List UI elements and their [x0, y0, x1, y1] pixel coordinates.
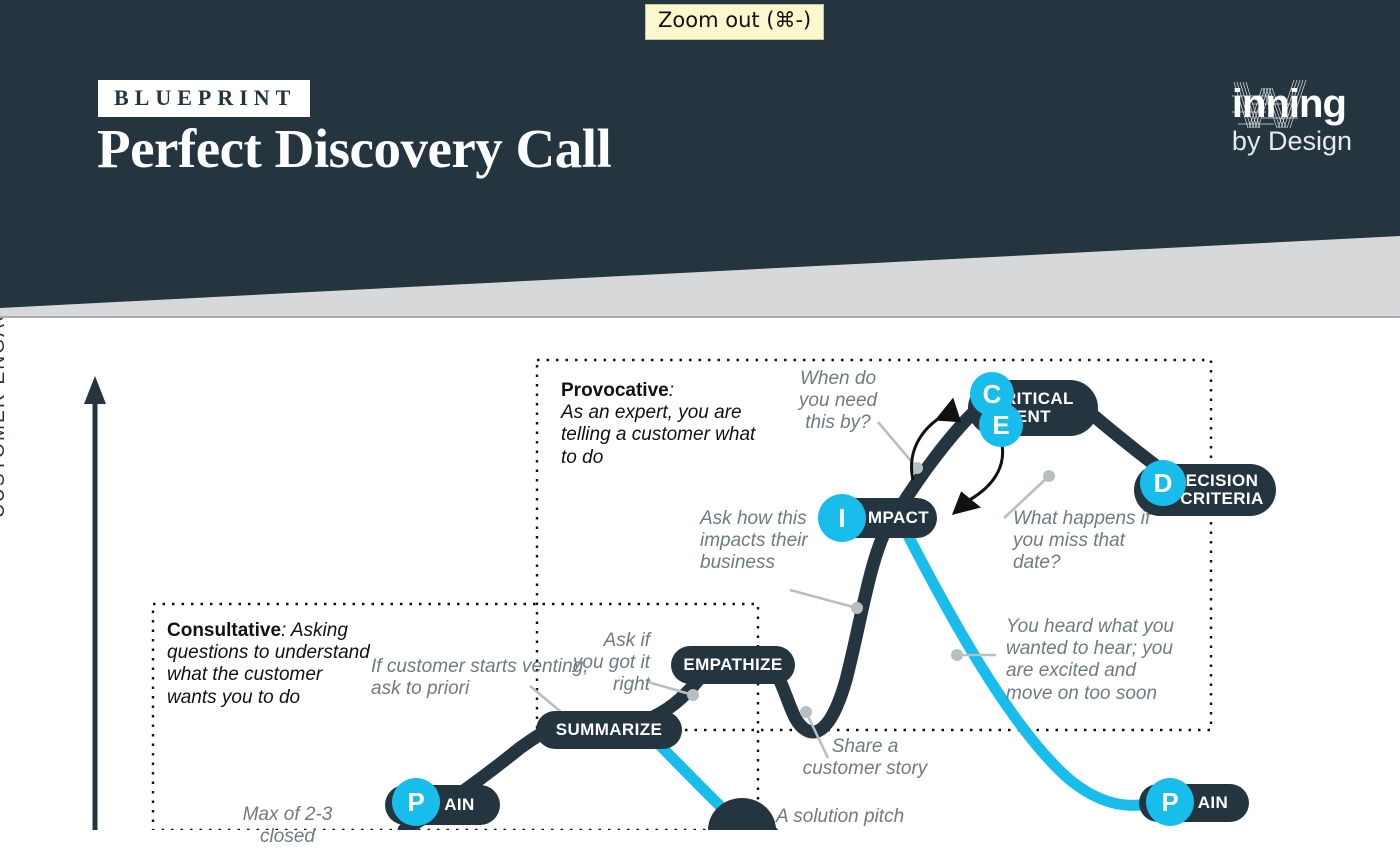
zoom-out-tooltip: Zoom out (⌘-): [645, 4, 824, 40]
annotation-you-heard: You heard what you wanted to hear; you a…: [1006, 616, 1186, 705]
node-impact-letter-icon: I: [818, 494, 866, 542]
blueprint-eyebrow-tag: BLUEPRINT: [98, 80, 310, 117]
node-summarize[interactable]: SUMMARIZE: [536, 711, 682, 749]
node-decision-criteria-letter-icon: D: [1140, 460, 1186, 506]
page-title: Perfect Discovery Call: [97, 117, 611, 180]
node-decision-criteria-line1: ECISION: [1186, 472, 1259, 490]
node-critical-event-letter-e-icon: E: [979, 403, 1023, 447]
consultative-zone-text: Consultative: Asking questions to unders…: [167, 620, 377, 709]
discovery-call-diagram: CUSTOMER ENGAGEMENT Provocative: As an e…: [0, 318, 1400, 830]
provocative-zone-text: Provocative: As an expert, you are telli…: [561, 380, 761, 469]
provocative-zone-sep: :: [669, 380, 674, 401]
provocative-zone-title: Provocative: [561, 380, 669, 401]
node-pain-right-label: AIN: [1198, 794, 1228, 812]
node-impact-label: MPACT: [868, 509, 929, 527]
annotation-max-of-2-3: Max of 2-3 closed: [230, 804, 345, 848]
node-empathize[interactable]: EMPATHIZE: [671, 646, 795, 684]
node-summarize-label: SUMMARIZE: [556, 721, 663, 739]
annotation-if-customer-vents: If customer starts venting, ask to prior…: [371, 656, 601, 700]
annotation-when-do-you-need: When do you need this by?: [790, 368, 886, 435]
provocative-zone-body: As an expert, you are telling a customer…: [561, 402, 755, 467]
node-pain-left-letter-icon: P: [392, 778, 440, 826]
consultative-zone-sep: : Asking: [281, 620, 348, 641]
node-pain-left-label: AIN: [444, 796, 474, 814]
node-pain-right-letter-icon: P: [1146, 778, 1194, 826]
y-axis: [84, 376, 106, 830]
annotation-what-happens: What happens if you miss that date?: [1013, 508, 1163, 575]
consultative-zone-title: Consultative: [167, 620, 281, 641]
winning-by-design-logo: inning by Design: [1232, 78, 1352, 156]
consultative-zone-body: questions to understand what the custome…: [167, 642, 370, 707]
page-header: BLUEPRINT Perfect Discovery Call: [0, 0, 1400, 318]
annotation-a-solution-pitch: A solution pitch: [776, 806, 946, 828]
node-decision-criteria-line2: CRITERIA: [1180, 490, 1263, 508]
node-empathize-label: EMPATHIZE: [683, 656, 782, 674]
node-critical-event-line1: RITICAL: [1004, 390, 1074, 408]
annotation-share-a-story: Share a customer story: [800, 736, 930, 780]
annotation-ask-how-impacts: Ask how this impacts their business: [700, 508, 818, 575]
